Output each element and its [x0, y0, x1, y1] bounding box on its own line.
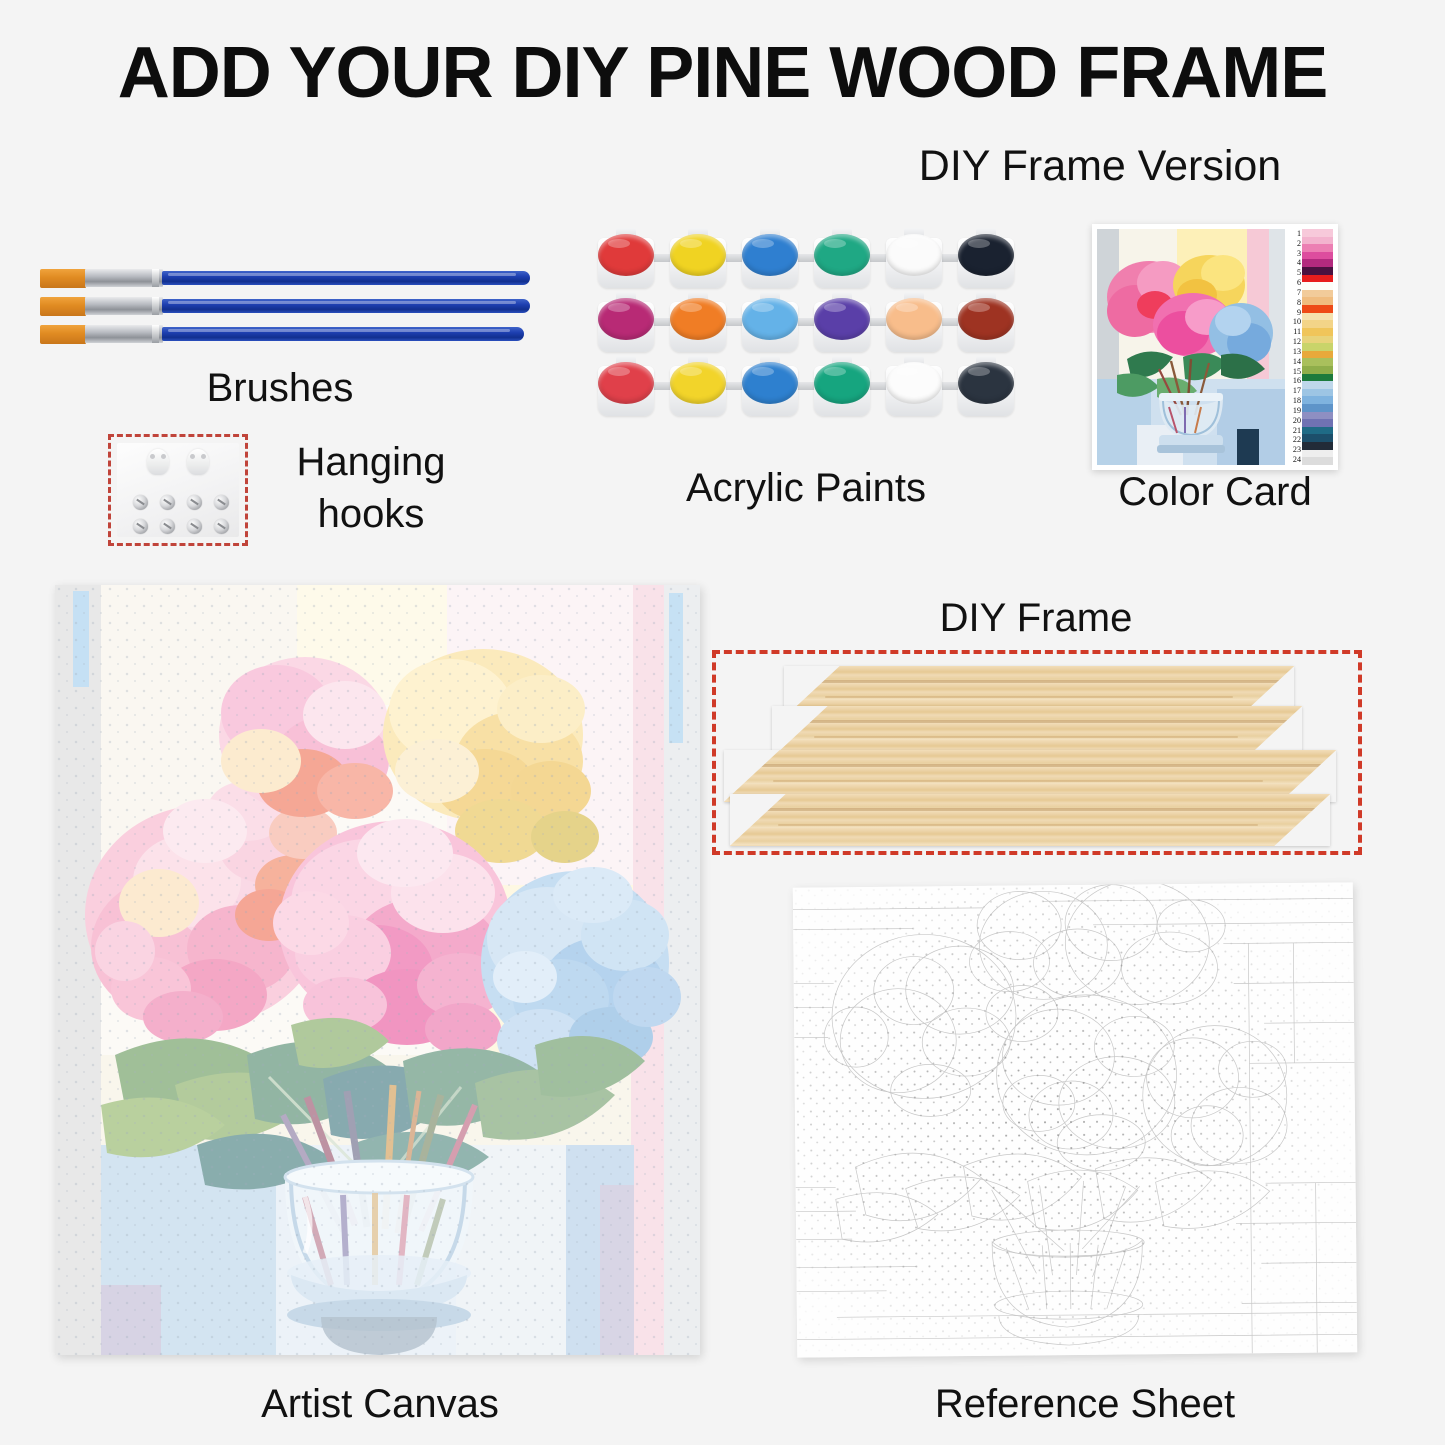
paint-pot [664, 292, 732, 354]
paint-pot [880, 228, 948, 290]
color-card-swatch [1302, 252, 1333, 260]
paint-pot-color [598, 234, 654, 276]
color-card-swatch [1302, 419, 1333, 427]
color-card-numbers: 123456789101112131415161718192021222324 [1285, 229, 1302, 465]
hook-icon [147, 449, 169, 475]
paint-pot-color [670, 298, 726, 340]
color-card-number: 11 [1285, 327, 1301, 337]
brush-handle [162, 271, 530, 285]
screw-icon [187, 519, 202, 534]
paint-pot [808, 356, 876, 418]
brushes-label: Brushes [120, 366, 440, 411]
color-card-number: 19 [1285, 406, 1301, 416]
color-card-swatch [1302, 381, 1333, 389]
color-card-number: 18 [1285, 396, 1301, 406]
paint-pot-color [814, 234, 870, 276]
paint-pot-color [958, 298, 1014, 340]
screw-icon [214, 495, 229, 510]
color-card-swatch [1302, 389, 1333, 397]
brush-ferrule [85, 297, 163, 315]
paint-pot [592, 356, 660, 418]
hanging-hooks-label-line2: hooks [266, 492, 476, 537]
color-card-number: 1 [1285, 229, 1301, 239]
color-card-number: 22 [1285, 435, 1301, 445]
color-card-number: 24 [1285, 455, 1301, 465]
artist-canvas-image [55, 585, 700, 1355]
color-card-swatch [1302, 358, 1333, 366]
screw-icon [133, 495, 148, 510]
hanging-hooks-image [108, 434, 248, 546]
paint-pot [880, 356, 948, 418]
color-card-number: 7 [1285, 288, 1301, 298]
reference-sheet-image [793, 882, 1357, 1357]
paint-pot [664, 356, 732, 418]
hanging-hooks-label-line1: Hanging [266, 440, 476, 485]
color-card-label: Color Card [1075, 470, 1355, 515]
color-card-swatch [1302, 396, 1333, 404]
acrylic-paints-image [592, 228, 1022, 418]
paint-pot [736, 292, 804, 354]
paint-pot-color [886, 362, 942, 404]
color-card-swatch [1302, 305, 1333, 313]
brush-handle [162, 299, 530, 313]
color-card-swatch [1302, 343, 1333, 351]
paint-pot [808, 292, 876, 354]
paint-pot-color [886, 234, 942, 276]
brushes-image [40, 268, 530, 358]
screw-icon [160, 519, 175, 534]
paint-pot-color [814, 362, 870, 404]
color-card-swatch [1302, 259, 1333, 267]
paint-pot [664, 228, 732, 290]
paint-pot [736, 228, 804, 290]
paint-pot-color [742, 298, 798, 340]
color-card-swatch [1302, 282, 1333, 290]
color-card-swatch [1302, 275, 1333, 283]
color-card-swatch [1302, 244, 1333, 252]
color-card-number: 17 [1285, 386, 1301, 396]
diy-frame-label: DIY Frame [836, 596, 1236, 641]
color-card-number: 2 [1285, 239, 1301, 249]
hooks-backing-card [117, 443, 239, 537]
page-subtitle: DIY Frame Version [880, 142, 1320, 191]
paint-brush [40, 324, 530, 344]
color-card-swatch [1302, 237, 1333, 245]
color-card-swatch [1302, 336, 1333, 344]
frame-bar [730, 794, 1330, 846]
color-card-swatch [1302, 374, 1333, 382]
paint-pot-row [592, 228, 1022, 288]
color-card-swatch [1302, 328, 1333, 336]
paint-pot [952, 228, 1020, 290]
color-card-swatches [1302, 229, 1333, 465]
color-card-number: 14 [1285, 357, 1301, 367]
color-card-swatch-strip: 123456789101112131415161718192021222324 [1285, 229, 1333, 465]
paint-pot [808, 228, 876, 290]
color-card-number: 5 [1285, 268, 1301, 278]
artist-canvas-label: Artist Canvas [170, 1382, 590, 1427]
color-card-number: 15 [1285, 367, 1301, 377]
color-card-number: 6 [1285, 278, 1301, 288]
paint-pot-color [742, 362, 798, 404]
color-card-swatch [1302, 450, 1333, 458]
color-card-number: 21 [1285, 426, 1301, 436]
color-card-swatch [1302, 297, 1333, 305]
screw-icon [214, 519, 229, 534]
paint-pot [592, 228, 660, 290]
color-card-swatch [1302, 290, 1333, 298]
brush-bristle [40, 325, 86, 344]
paint-pot [880, 292, 948, 354]
color-card-image: 123456789101112131415161718192021222324 [1092, 224, 1338, 470]
color-card-number: 9 [1285, 308, 1301, 318]
paint-pot-color [958, 234, 1014, 276]
color-card-number: 13 [1285, 347, 1301, 357]
acrylic-paints-label: Acrylic Paints [596, 466, 1016, 511]
paint-pot-color [742, 234, 798, 276]
color-card-swatch [1302, 427, 1333, 435]
brush-handle [162, 327, 524, 341]
color-card-number: 3 [1285, 249, 1301, 259]
color-card-number: 10 [1285, 317, 1301, 327]
paint-pot-color [814, 298, 870, 340]
paint-pot-color [598, 362, 654, 404]
paint-brush [40, 268, 530, 288]
color-card-swatch [1302, 442, 1333, 450]
color-card-swatch [1302, 351, 1333, 359]
diy-frame-image [712, 650, 1362, 855]
brush-bristle [40, 269, 86, 288]
paint-pot-row [592, 292, 1022, 352]
paint-pot-row [592, 356, 1022, 416]
paint-pot-color [886, 298, 942, 340]
color-card-swatch [1302, 434, 1333, 442]
paint-pot [736, 356, 804, 418]
color-card-number: 8 [1285, 298, 1301, 308]
paint-pot [592, 292, 660, 354]
color-card-swatch [1302, 412, 1333, 420]
brush-bristle [40, 297, 86, 316]
color-card-swatch [1302, 404, 1333, 412]
screw-icon [133, 519, 148, 534]
infographic-root: ADD YOUR DIY PINE WOOD FRAME DIY Frame V… [0, 0, 1445, 1445]
color-card-swatch [1302, 313, 1333, 321]
paint-pot [952, 356, 1020, 418]
brush-ferrule [85, 269, 163, 287]
hook-icon [187, 449, 209, 475]
screw-icon [187, 495, 202, 510]
color-card-swatch [1302, 320, 1333, 328]
color-card-artwork [1097, 229, 1285, 465]
color-card-number: 12 [1285, 337, 1301, 347]
color-card-swatch [1302, 267, 1333, 275]
color-card-swatch [1302, 366, 1333, 374]
color-card-number: 4 [1285, 258, 1301, 268]
paint-brush [40, 296, 530, 316]
color-card-number: 16 [1285, 376, 1301, 386]
color-card-swatch [1302, 457, 1333, 465]
paint-pot-color [958, 362, 1014, 404]
color-card-number: 23 [1285, 445, 1301, 455]
color-card-swatch [1302, 229, 1333, 237]
brush-ferrule [85, 325, 163, 343]
paint-pot-color [670, 234, 726, 276]
paint-pot [952, 292, 1020, 354]
screw-icon [160, 495, 175, 510]
paint-pot-color [598, 298, 654, 340]
reference-sheet-label: Reference Sheet [875, 1382, 1295, 1427]
page-title: ADD YOUR DIY PINE WOOD FRAME [0, 32, 1445, 114]
paint-pot-color [670, 362, 726, 404]
color-card-number: 20 [1285, 416, 1301, 426]
